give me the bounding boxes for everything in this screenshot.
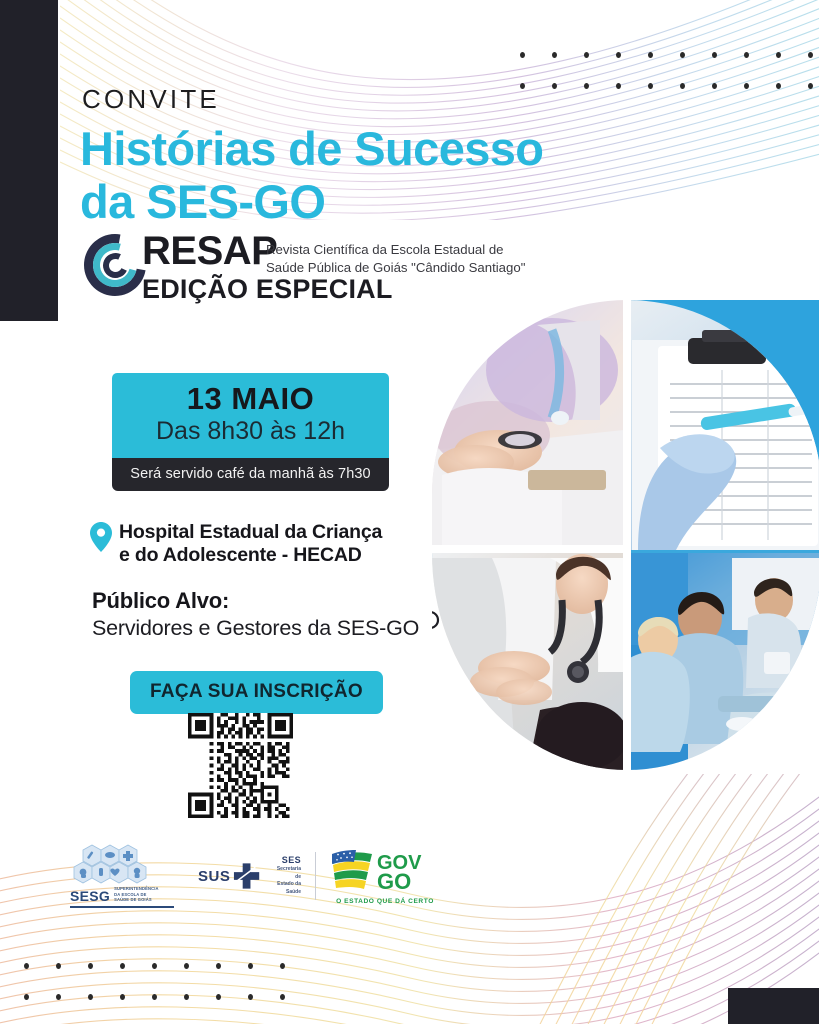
resap-subtitle-line1: Revista Científica da Escola Estadual de	[266, 241, 596, 259]
gov-go-mark-icon: GOV GO	[330, 848, 440, 896]
sesg-tagline-line1: SUPERINTENDÊNCIA	[114, 886, 158, 891]
footer-divider	[315, 852, 316, 900]
sus-wordmark: SUS	[198, 868, 230, 885]
sesg-tagline-line2: DA ESCOLA DE	[114, 892, 146, 897]
page-title-line2: da SES-GO	[80, 176, 620, 229]
sesg-logo: SESG SUPERINTENDÊNCIA DA ESCOLA DE SAÚDE…	[70, 844, 174, 909]
event-breakfast-note: Será servido café da manhã às 7h30	[124, 466, 377, 482]
event-venue-line2: e do Adolescente - HECAD	[119, 544, 382, 567]
ses-wordmark: SES	[270, 856, 301, 865]
ses-tagline-line2: Estado da	[277, 881, 301, 887]
resap-logo-icon	[84, 234, 148, 298]
event-note-panel: Será servido café da manhã às 7h30	[112, 458, 389, 491]
ses-tagline-line3: Saúde	[286, 889, 301, 895]
gov-go-logo: GOV GO O ESTADO QUE DÁ CERTO	[330, 848, 440, 905]
resap-subtitle-line2: Saúde Pública de Goiás "Cândido Santiago…	[266, 259, 596, 277]
sesg-hexagon-icon	[70, 844, 166, 884]
event-date-card: 13 MAIO Das 8h30 às 12h Será servido caf…	[112, 373, 389, 491]
dot-pattern-top	[520, 52, 819, 114]
page-title: Histórias de Sucesso da SES-GO	[80, 123, 620, 228]
sus-ses-logo: SUS SES Secretaria de Estado da Saúde	[198, 856, 301, 896]
event-date: 13 MAIO	[112, 383, 389, 415]
dark-corner-block	[728, 988, 819, 1024]
event-venue-line1: Hospital Estadual da Criança	[119, 521, 382, 544]
page-title-line1: Histórias de Sucesso	[80, 123, 620, 176]
dark-side-bar	[0, 0, 58, 321]
event-venue: Hospital Estadual da Criança e do Adoles…	[119, 521, 382, 568]
resap-edition-label: EDIÇÃO ESPECIAL	[142, 274, 393, 304]
target-audience-title: Público Alvo:	[92, 588, 419, 614]
qr-code-icon[interactable]	[188, 713, 293, 818]
event-date-panel: 13 MAIO Das 8h30 às 12h	[112, 373, 389, 458]
dot-pattern-bottom	[0, 963, 312, 1024]
target-audience: Público Alvo: Servidores e Gestores da S…	[92, 588, 419, 641]
gov-go-tagline: O ESTADO QUE DÁ CERTO	[336, 898, 434, 905]
register-button[interactable]: FAÇA SUA INSCRIÇÃO	[130, 671, 383, 714]
photo-collage	[432, 300, 819, 770]
sesg-tagline: SUPERINTENDÊNCIA DA ESCOLA DE SAÚDE DE G…	[114, 886, 158, 904]
sesg-rule	[70, 906, 174, 908]
gov-word-bottom: GO	[377, 869, 411, 894]
invitation-poster: CONVITE Histórias de Sucesso da SES-GO R…	[0, 0, 819, 1024]
event-location: Hospital Estadual da Criança e do Adoles…	[90, 521, 382, 568]
target-audience-body: Servidores e Gestores da SES-GO	[92, 616, 419, 641]
ses-tagline-line1: Secretaria de	[277, 866, 301, 880]
page-kicker: CONVITE	[82, 84, 220, 115]
resap-subtitle: Revista Científica da Escola Estadual de…	[266, 241, 596, 277]
location-pin-icon	[90, 522, 112, 552]
ses-text-block: SES Secretaria de Estado da Saúde	[270, 856, 301, 896]
footer-logos: SESG SUPERINTENDÊNCIA DA ESCOLA DE SAÚDE…	[70, 840, 440, 912]
sus-cross-icon	[232, 861, 261, 891]
sesg-wordmark: SESG	[70, 889, 110, 903]
event-time: Das 8h30 às 12h	[112, 416, 389, 447]
sesg-tagline-line3: SAÚDE DE GOIÁS	[114, 897, 152, 902]
ses-tagline: Secretaria de Estado da Saúde	[270, 866, 301, 896]
